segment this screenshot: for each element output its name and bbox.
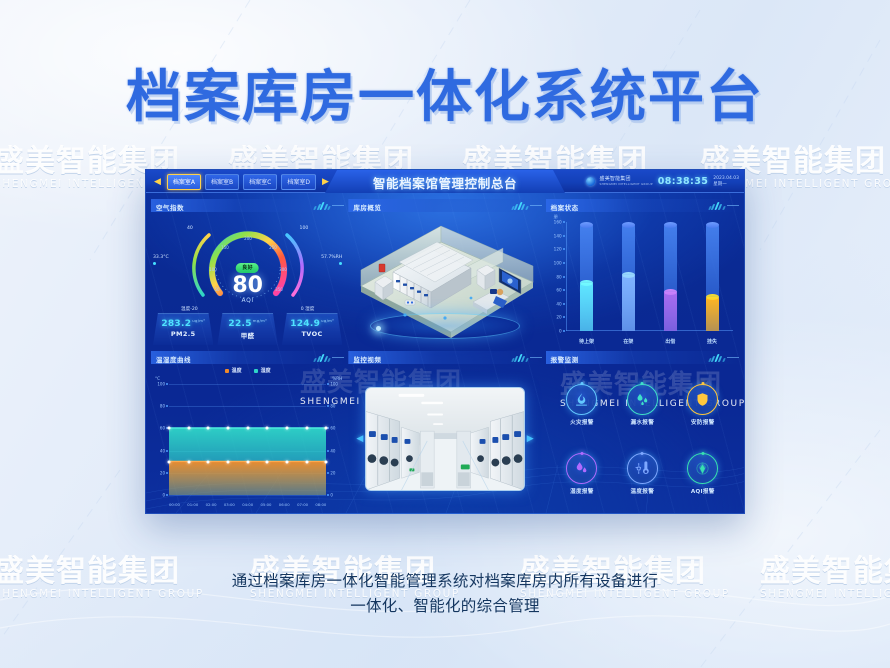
- video-prev-button[interactable]: ◀: [356, 434, 363, 444]
- gauge-label-temp-max: 40: [187, 226, 193, 232]
- data-point: [226, 460, 229, 463]
- metric-value: 124.9ug/m³: [282, 318, 342, 329]
- alarm-label: 安防报警: [687, 418, 718, 426]
- svg-text:350: 350: [275, 287, 283, 292]
- dashboard-window: ◀ 档案室A 档案室B 档案室C 档案室D ▶ 智能档案馆管理控制总台 盛美智能…: [145, 169, 745, 514]
- caption-line-2: 一体化、智能化的综合管理: [0, 594, 890, 620]
- metric-card-formaldehyde: 22.5mg/m³ 甲醛: [217, 313, 277, 346]
- alarm-icon-circle[interactable]: [627, 453, 658, 484]
- panel-header: 温湿度曲线: [151, 351, 344, 364]
- data-point: [207, 427, 210, 430]
- alarm-icon-circle[interactable]: [566, 453, 597, 484]
- aqi-readout: 良好 80 AQI: [232, 254, 263, 304]
- y-axis: 020406080100120140160: [550, 222, 565, 331]
- fire-icon: [574, 392, 589, 407]
- brand-name: 盛美智能集团 SHENGMEI INTELLIGENT GROUP: [600, 177, 653, 186]
- bar-column[interactable]: [706, 222, 719, 331]
- temp-x-axis-labels: 00:0001:0002:0003:0004:0005:0006:0007:00…: [169, 502, 326, 507]
- video-next-button[interactable]: ▶: [527, 434, 534, 444]
- air-metric-cards: 283.2ug/m³ PM2.5 22.5mg/m³ 甲醛: [151, 313, 344, 346]
- y-axis-tick-dot: [563, 303, 565, 305]
- data-point: [325, 427, 328, 430]
- alarm-label: 漏水报警: [627, 418, 658, 426]
- legend-item-temperature[interactable]: 温度: [225, 367, 242, 374]
- temp-axis-unit-left: °C: [155, 376, 160, 381]
- svg-text:100: 100: [209, 267, 217, 272]
- gauge-label-temperature: 33.3°C: [153, 255, 169, 265]
- chart-plot-area: 020406080100120140160: [566, 222, 733, 331]
- data-point: [246, 427, 249, 430]
- metric-card-pm25: 283.2ug/m³ PM2.5: [153, 313, 213, 346]
- svg-text:300: 300: [279, 267, 287, 272]
- data-point: [266, 460, 269, 463]
- y-axis-tick: 80: [160, 404, 165, 409]
- panel-body: ◀ ▶: [348, 366, 541, 511]
- metric-value: 283.2ug/m³: [153, 318, 213, 329]
- dashboard: ◀ 档案室A 档案室B 档案室C 档案室D ▶ 智能档案馆管理控制总台 盛美智能…: [145, 169, 745, 514]
- data-point: [168, 460, 171, 463]
- metric-value: 22.5mg/m³: [217, 318, 277, 329]
- data-point: [305, 427, 308, 430]
- humidity-icon: [574, 461, 589, 476]
- alarm-label: AQI报警: [687, 487, 718, 495]
- panel-video-monitor: 监控视频 ◀ ▶: [348, 351, 541, 511]
- panel-deco-icon: [512, 202, 528, 210]
- x-axis-label: 06:00: [279, 502, 290, 507]
- x-axis-label: 03:00: [224, 502, 235, 507]
- panel-archive-status: 档案状态 册 020406080100120140160 待上架在架出借挂失: [546, 199, 739, 347]
- page-title: 档案库房一体化系统平台: [0, 52, 890, 133]
- alarm-label: 温度报警: [627, 487, 658, 495]
- x-axis-label: 08:00: [315, 502, 326, 507]
- panel-deco-icon: [314, 354, 330, 362]
- data-point: [187, 427, 190, 430]
- archive-status-chart: 册 020406080100120140160 待上架在架出借挂失: [546, 214, 739, 347]
- y-axis-tick: 80: [330, 404, 335, 409]
- x-axis-labels: 待上架在架出借挂失: [566, 338, 733, 345]
- tab-room-c[interactable]: 档案室C: [243, 174, 277, 190]
- temp-humidity-plot: 020406080100 020406080100: [169, 384, 326, 495]
- svg-text:250: 250: [269, 245, 277, 250]
- data-point: [187, 460, 190, 463]
- y-axis-tick-dot: [563, 248, 565, 250]
- water-leak-icon: [635, 392, 650, 407]
- data-point: [285, 460, 288, 463]
- alarm-water-leak[interactable]: 漏水报警: [627, 384, 658, 426]
- metric-label: TVOC: [282, 330, 342, 338]
- thermometer-icon: [635, 461, 650, 476]
- next-arrow-icon[interactable]: ▶: [320, 177, 331, 187]
- y-axis-tick: 20: [160, 470, 165, 475]
- gridline: [169, 495, 326, 496]
- y-axis-tick: 140: [554, 233, 562, 238]
- panel-body: 火灾报警漏水报警安防报警湿度报警温度报警AQI报警: [546, 366, 739, 511]
- y-axis-tick-dot: [563, 276, 565, 278]
- y-axis-tick: 100: [157, 382, 165, 387]
- panel-body: 册 020406080100120140160 待上架在架出借挂失: [546, 214, 739, 347]
- alarm-icon-circle[interactable]: [566, 384, 597, 415]
- alarm-grid: 火灾报警漏水报警安防报警湿度报警温度报警AQI报警: [546, 366, 739, 511]
- x-axis-label: 04:00: [242, 502, 253, 507]
- y-axis-tick: 20: [330, 470, 335, 475]
- panel-deco-icon: [512, 354, 528, 362]
- y-axis-tick-dot: [563, 235, 565, 237]
- temp-y-axis-left: 020406080100: [154, 384, 168, 495]
- panel-air-quality: 空气指数: [151, 199, 344, 347]
- panel-deco-icon: [709, 354, 725, 362]
- y-axis-tick-dot: [166, 494, 168, 496]
- y-axis-tick: 80: [556, 274, 561, 279]
- y-axis-tick: 40: [160, 448, 165, 453]
- clock-time: 08:38:35: [658, 176, 708, 187]
- data-point: [226, 427, 229, 430]
- x-axis-label: 待上架: [575, 338, 599, 345]
- chart-legend: 温度 湿度: [225, 367, 271, 374]
- y-axis-tick-dot: [327, 383, 329, 385]
- alarm-icon-circle[interactable]: [687, 384, 718, 415]
- x-axis-label: 01:00: [187, 502, 198, 507]
- room-base-ring: [370, 313, 520, 339]
- y-axis-tick-dot: [563, 221, 565, 223]
- metric-label: PM2.5: [153, 330, 213, 338]
- y-axis-tick-dot: [166, 383, 168, 385]
- y-axis-tick: 120: [554, 247, 562, 252]
- video-feed-image: [366, 388, 524, 490]
- tab-room-d[interactable]: 档案室D: [281, 174, 316, 190]
- panel-room-overview: 库房概览: [348, 199, 541, 347]
- y-axis-tick: 20: [556, 315, 561, 320]
- bar-column[interactable]: [580, 222, 593, 331]
- dashboard-body: 空气指数: [146, 193, 744, 514]
- x-axis-label: 出借: [658, 338, 682, 345]
- dashboard-title: 智能档案馆管理控制总台: [373, 173, 517, 192]
- y-axis-tick: 40: [556, 301, 561, 306]
- y-axis-tick: 0: [162, 493, 165, 498]
- x-axis-label: 00:00: [169, 502, 180, 507]
- bar-column[interactable]: [664, 222, 677, 331]
- x-axis-label: 在架: [616, 338, 640, 345]
- metric-label: 甲醛: [217, 330, 277, 340]
- alarm-fire[interactable]: 火灾报警: [566, 384, 597, 426]
- y-axis-tick: 160: [554, 220, 562, 225]
- gauge-label-hum-max: 100: [300, 226, 309, 232]
- aqi-status-badge: 良好: [236, 263, 259, 273]
- alarm-icon-circle[interactable]: [687, 453, 718, 484]
- alarm-label: 火灾报警: [566, 418, 597, 426]
- x-axis-label: 07:00: [297, 502, 308, 507]
- y-axis-tick: 0: [330, 493, 333, 498]
- x-axis-label: 05:00: [260, 502, 271, 507]
- video-feed[interactable]: [365, 387, 525, 491]
- y-axis-tick: 100: [554, 260, 562, 265]
- panel-temp-humidity: 温湿度曲线 温度 湿度 °C %RH: [151, 351, 344, 511]
- y-axis-tick: 0: [559, 329, 562, 334]
- y-axis-tick: 60: [556, 288, 561, 293]
- y-axis-tick-dot: [166, 472, 168, 474]
- temp-y-axis-right: 020406080100: [327, 384, 341, 495]
- bar-fill: [622, 275, 635, 331]
- panel-body: [348, 214, 541, 347]
- bar-column[interactable]: [622, 222, 635, 331]
- aqi-icon: [695, 461, 710, 476]
- bar-fill: [580, 283, 593, 331]
- alarm-shield[interactable]: 安防报警: [687, 384, 718, 426]
- panel-header: 监控视频: [348, 351, 541, 364]
- tab-room-a[interactable]: 档案室A: [167, 174, 201, 190]
- panel-body: 50100 150200 250300 350 良好 80 AQI: [151, 214, 344, 347]
- data-point: [305, 460, 308, 463]
- brand-logo-icon: [586, 177, 595, 186]
- alarm-thermometer[interactable]: 温度报警: [627, 453, 658, 495]
- dashboard-header: ◀ 档案室A 档案室B 档案室C 档案室D ▶ 智能档案馆管理控制总台 盛美智能…: [146, 170, 744, 193]
- aqi-value: 80: [232, 274, 263, 297]
- data-point: [246, 460, 249, 463]
- temp-axis-unit-right: %RH: [332, 376, 342, 381]
- y-axis-tick-dot: [327, 450, 329, 452]
- gauge-label-humidity: 57.7%RH: [321, 255, 342, 265]
- alarm-icon-circle[interactable]: [627, 384, 658, 415]
- y-axis-tick-dot: [166, 450, 168, 452]
- y-axis-tick-dot: [166, 405, 168, 407]
- bar-fill: [706, 297, 719, 331]
- panel-header: 报警监测: [546, 351, 739, 364]
- panel-deco-icon: [709, 202, 725, 210]
- y-axis-tick: 60: [160, 426, 165, 431]
- svg-text:50: 50: [214, 287, 220, 292]
- y-axis-tick: 40: [330, 448, 335, 453]
- data-point: [325, 460, 328, 463]
- svg-text:200: 200: [244, 236, 252, 241]
- aqi-unit: AQI: [232, 297, 263, 304]
- panel-header: 档案状态: [546, 199, 739, 212]
- y-axis-tick-dot: [563, 330, 565, 332]
- x-axis-label: 02:00: [206, 502, 217, 507]
- room-tabs[interactable]: ◀ 档案室A 档案室B 档案室C 档案室D ▶: [152, 170, 331, 193]
- svg-text:150: 150: [221, 245, 229, 250]
- legend-item-humidity[interactable]: 湿度: [254, 367, 271, 374]
- temp-humidity-area: [169, 384, 326, 495]
- panel-header: 库房概览: [348, 199, 541, 212]
- alarm-label: 湿度报警: [566, 487, 597, 495]
- metric-card-tvoc: 124.9ug/m³ TVOC: [282, 313, 342, 346]
- y-axis-tick-dot: [563, 289, 565, 291]
- y-axis-tick-dot: [327, 405, 329, 407]
- data-point: [285, 427, 288, 430]
- shield-icon: [695, 392, 710, 407]
- data-point: [168, 427, 171, 430]
- y-axis-tick-dot: [563, 316, 565, 318]
- y-axis-tick-dot: [563, 262, 565, 264]
- page-caption: 通过档案库房一体化智能管理系统对档案库房内所有设备进行 一体化、智能化的综合管理: [0, 569, 890, 620]
- bar-group: [566, 222, 733, 331]
- alarm-humidity[interactable]: 湿度报警: [566, 453, 597, 495]
- prev-arrow-icon[interactable]: ◀: [152, 177, 163, 187]
- data-point: [266, 427, 269, 430]
- tab-room-b[interactable]: 档案室B: [205, 174, 239, 190]
- y-axis-tick-dot: [327, 472, 329, 474]
- panel-deco-icon: [314, 202, 330, 210]
- alarm-aqi[interactable]: AQI报警: [687, 453, 718, 495]
- x-axis-label: 挂失: [700, 338, 724, 345]
- caption-line-1: 通过档案库房一体化智能管理系统对档案库房内所有设备进行: [0, 569, 890, 595]
- data-point: [207, 460, 210, 463]
- panel-body: 温度 湿度 °C %RH 020406080100 020406080100: [151, 366, 344, 511]
- y-axis-tick: 100: [330, 382, 338, 387]
- room-3d-stage[interactable]: [348, 214, 541, 347]
- clock-date: 2023.04.03 星期一: [713, 176, 739, 187]
- header-right: 盛美智能集团 SHENGMEI INTELLIGENT GROUP 08:38:…: [586, 170, 740, 193]
- y-axis-tick: 60: [330, 426, 335, 431]
- aqi-gauge-wrapper: 50100 150200 250300 350 良好 80 AQI: [151, 214, 344, 309]
- panel-header: 空气指数: [151, 199, 344, 212]
- panel-alarm-monitor: 报警监测 火灾报警漏水报警安防报警湿度报警温度报警AQI报警: [546, 351, 739, 511]
- y-axis-tick-dot: [327, 494, 329, 496]
- bar-fill: [664, 292, 677, 331]
